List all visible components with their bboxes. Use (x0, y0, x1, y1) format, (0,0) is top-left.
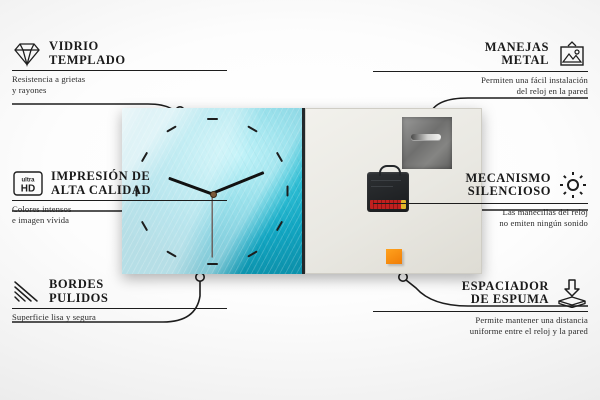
diamond-icon (12, 41, 42, 67)
feature-vidrio-templado: VIDRIO TEMPLADO Resistencia a grietas y … (12, 40, 227, 95)
svg-text:HD: HD (21, 184, 35, 195)
polished-edges-icon (12, 280, 42, 304)
feature-desc: Las manecillas del reloj no emiten ningú… (373, 207, 588, 228)
feature-title: MANEJAS METAL (485, 41, 549, 68)
feature-title: BORDES PULIDOS (49, 278, 108, 305)
feature-manejas-metal: MANEJAS METAL Permiten una fácil instala… (373, 40, 588, 96)
feature-title: IMPRESIÓN DE ALTA CALIDAD (51, 170, 151, 197)
feature-rule (12, 200, 227, 201)
feature-title: VIDRIO TEMPLADO (49, 40, 126, 67)
feature-desc: Superficie lisa y segura (12, 312, 227, 323)
feature-espaciador-espuma: ESPACIADOR DE ESPUMA Permite mantener un… (373, 278, 588, 336)
feature-rule (373, 311, 588, 312)
feature-rule (373, 203, 588, 204)
feature-desc: Permiten una fácil instalación del reloj… (373, 75, 588, 96)
feature-desc: Permite mantener una distancia uniforme … (373, 315, 588, 336)
feature-bordes-pulidos: BORDES PULIDOS Superficie lisa y segura (12, 278, 227, 323)
ultra-hd-icon: ultra HD (12, 170, 44, 197)
feature-impresion-alta-calidad: ultra HD IMPRESIÓN DE ALTA CALIDAD Color… (12, 170, 227, 225)
picture-hanger-icon (556, 40, 588, 68)
feature-title: ESPACIADOR DE ESPUMA (462, 280, 549, 307)
hour-marker-6 (207, 263, 218, 265)
infographic-canvas: VIDRIO TEMPLADO Resistencia a grietas y … (0, 0, 600, 400)
hour-marker-3 (287, 186, 289, 197)
feature-rule (12, 70, 227, 71)
hour-marker-12 (207, 118, 218, 120)
metal-hanger-plate (402, 117, 452, 169)
hanger-slot (411, 134, 441, 140)
feature-desc: Resistencia a grietas y rayones (12, 74, 227, 95)
feature-rule (12, 308, 227, 309)
feature-mecanismo-silencioso: MECANISMO SILENCIOSO Las manecillas del … (373, 170, 588, 228)
foam-spacer-icon (556, 278, 588, 308)
foam-spacer (386, 249, 402, 264)
feature-title: MECANISMO SILENCIOSO (465, 172, 551, 199)
feature-desc: Colores intensos e imagen vívida (12, 204, 227, 225)
gear-icon (558, 170, 588, 200)
feature-rule (373, 71, 588, 72)
